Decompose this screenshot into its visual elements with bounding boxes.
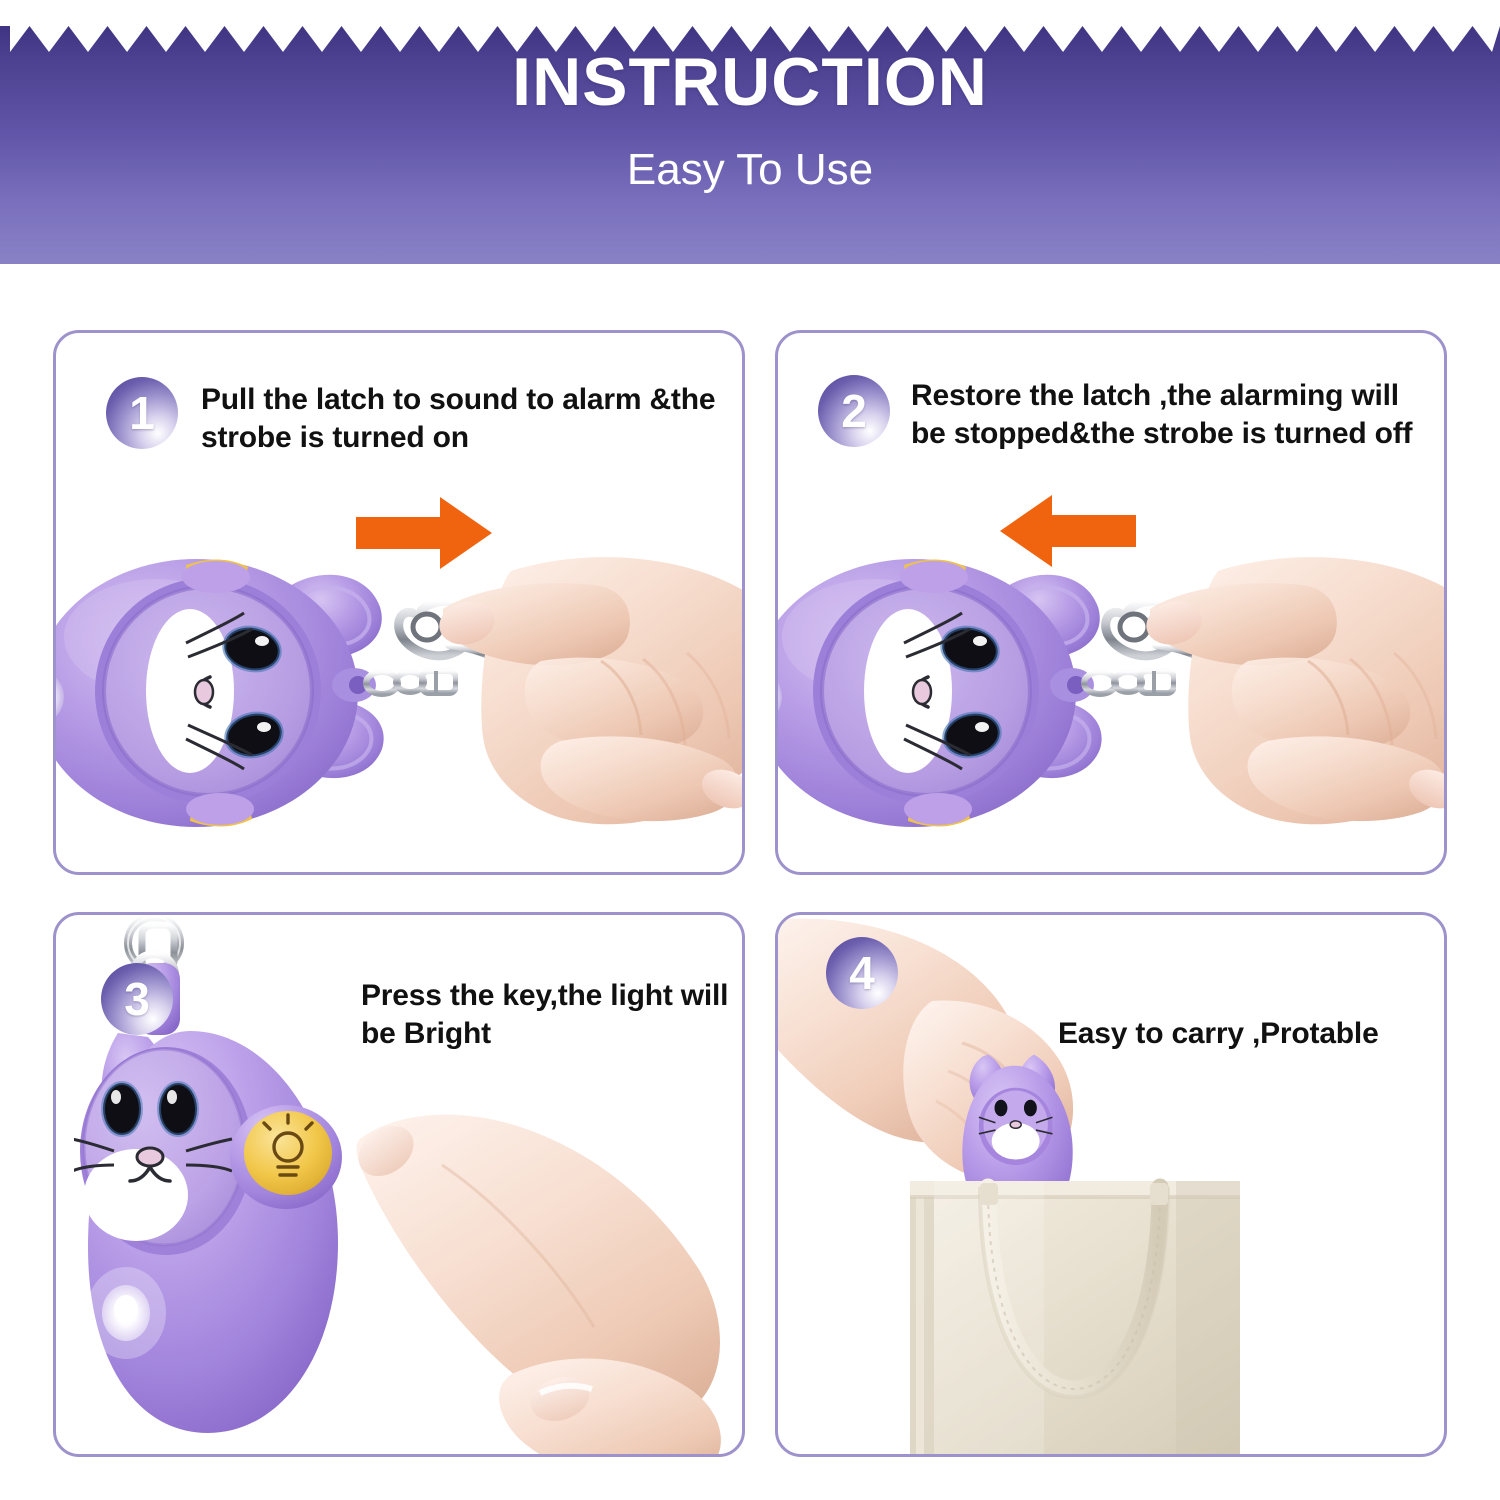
- hand-pulling-latch-icon: [391, 541, 745, 875]
- step-panel-1: 1 Pull the latch to sound to alarm &the …: [53, 330, 745, 875]
- step-description-1: Pull the latch to sound to alarm &the st…: [201, 381, 721, 457]
- step-panel-3: 3 Press the key,the light will be Bright: [53, 912, 745, 1457]
- step-panel-4: 4 Easy to carry ,Protable: [775, 912, 1447, 1457]
- tote-bag-icon: [876, 1163, 1356, 1457]
- step-badge-4: 4: [826, 937, 898, 1009]
- finger-pressing-button-icon: [324, 1105, 745, 1457]
- step-badge-2: 2: [818, 375, 890, 447]
- page-title: INSTRUCTION: [0, 48, 1500, 116]
- page-subtitle: Easy To Use: [0, 148, 1500, 192]
- header-zigzag-shape: [0, 0, 1500, 264]
- header-banner: INSTRUCTION Easy To Use: [0, 0, 1500, 264]
- step-description-3: Press the key,the light will be Bright: [361, 977, 741, 1053]
- step-description-4: Easy to carry ,Protable: [1058, 1015, 1447, 1053]
- instruction-graphic: INSTRUCTION Easy To Use: [0, 0, 1500, 1500]
- step-badge-3: 3: [101, 963, 173, 1035]
- arrow-left-icon: [998, 491, 1138, 571]
- arrow-right-icon: [354, 493, 494, 573]
- hand-restoring-latch-icon: [1098, 541, 1447, 875]
- step-panel-2: 2 Restore the latch ,the alarming will b…: [775, 330, 1447, 875]
- step-description-2: Restore the latch ,the alarming will be …: [911, 377, 1421, 453]
- step-badge-1: 1: [106, 377, 178, 449]
